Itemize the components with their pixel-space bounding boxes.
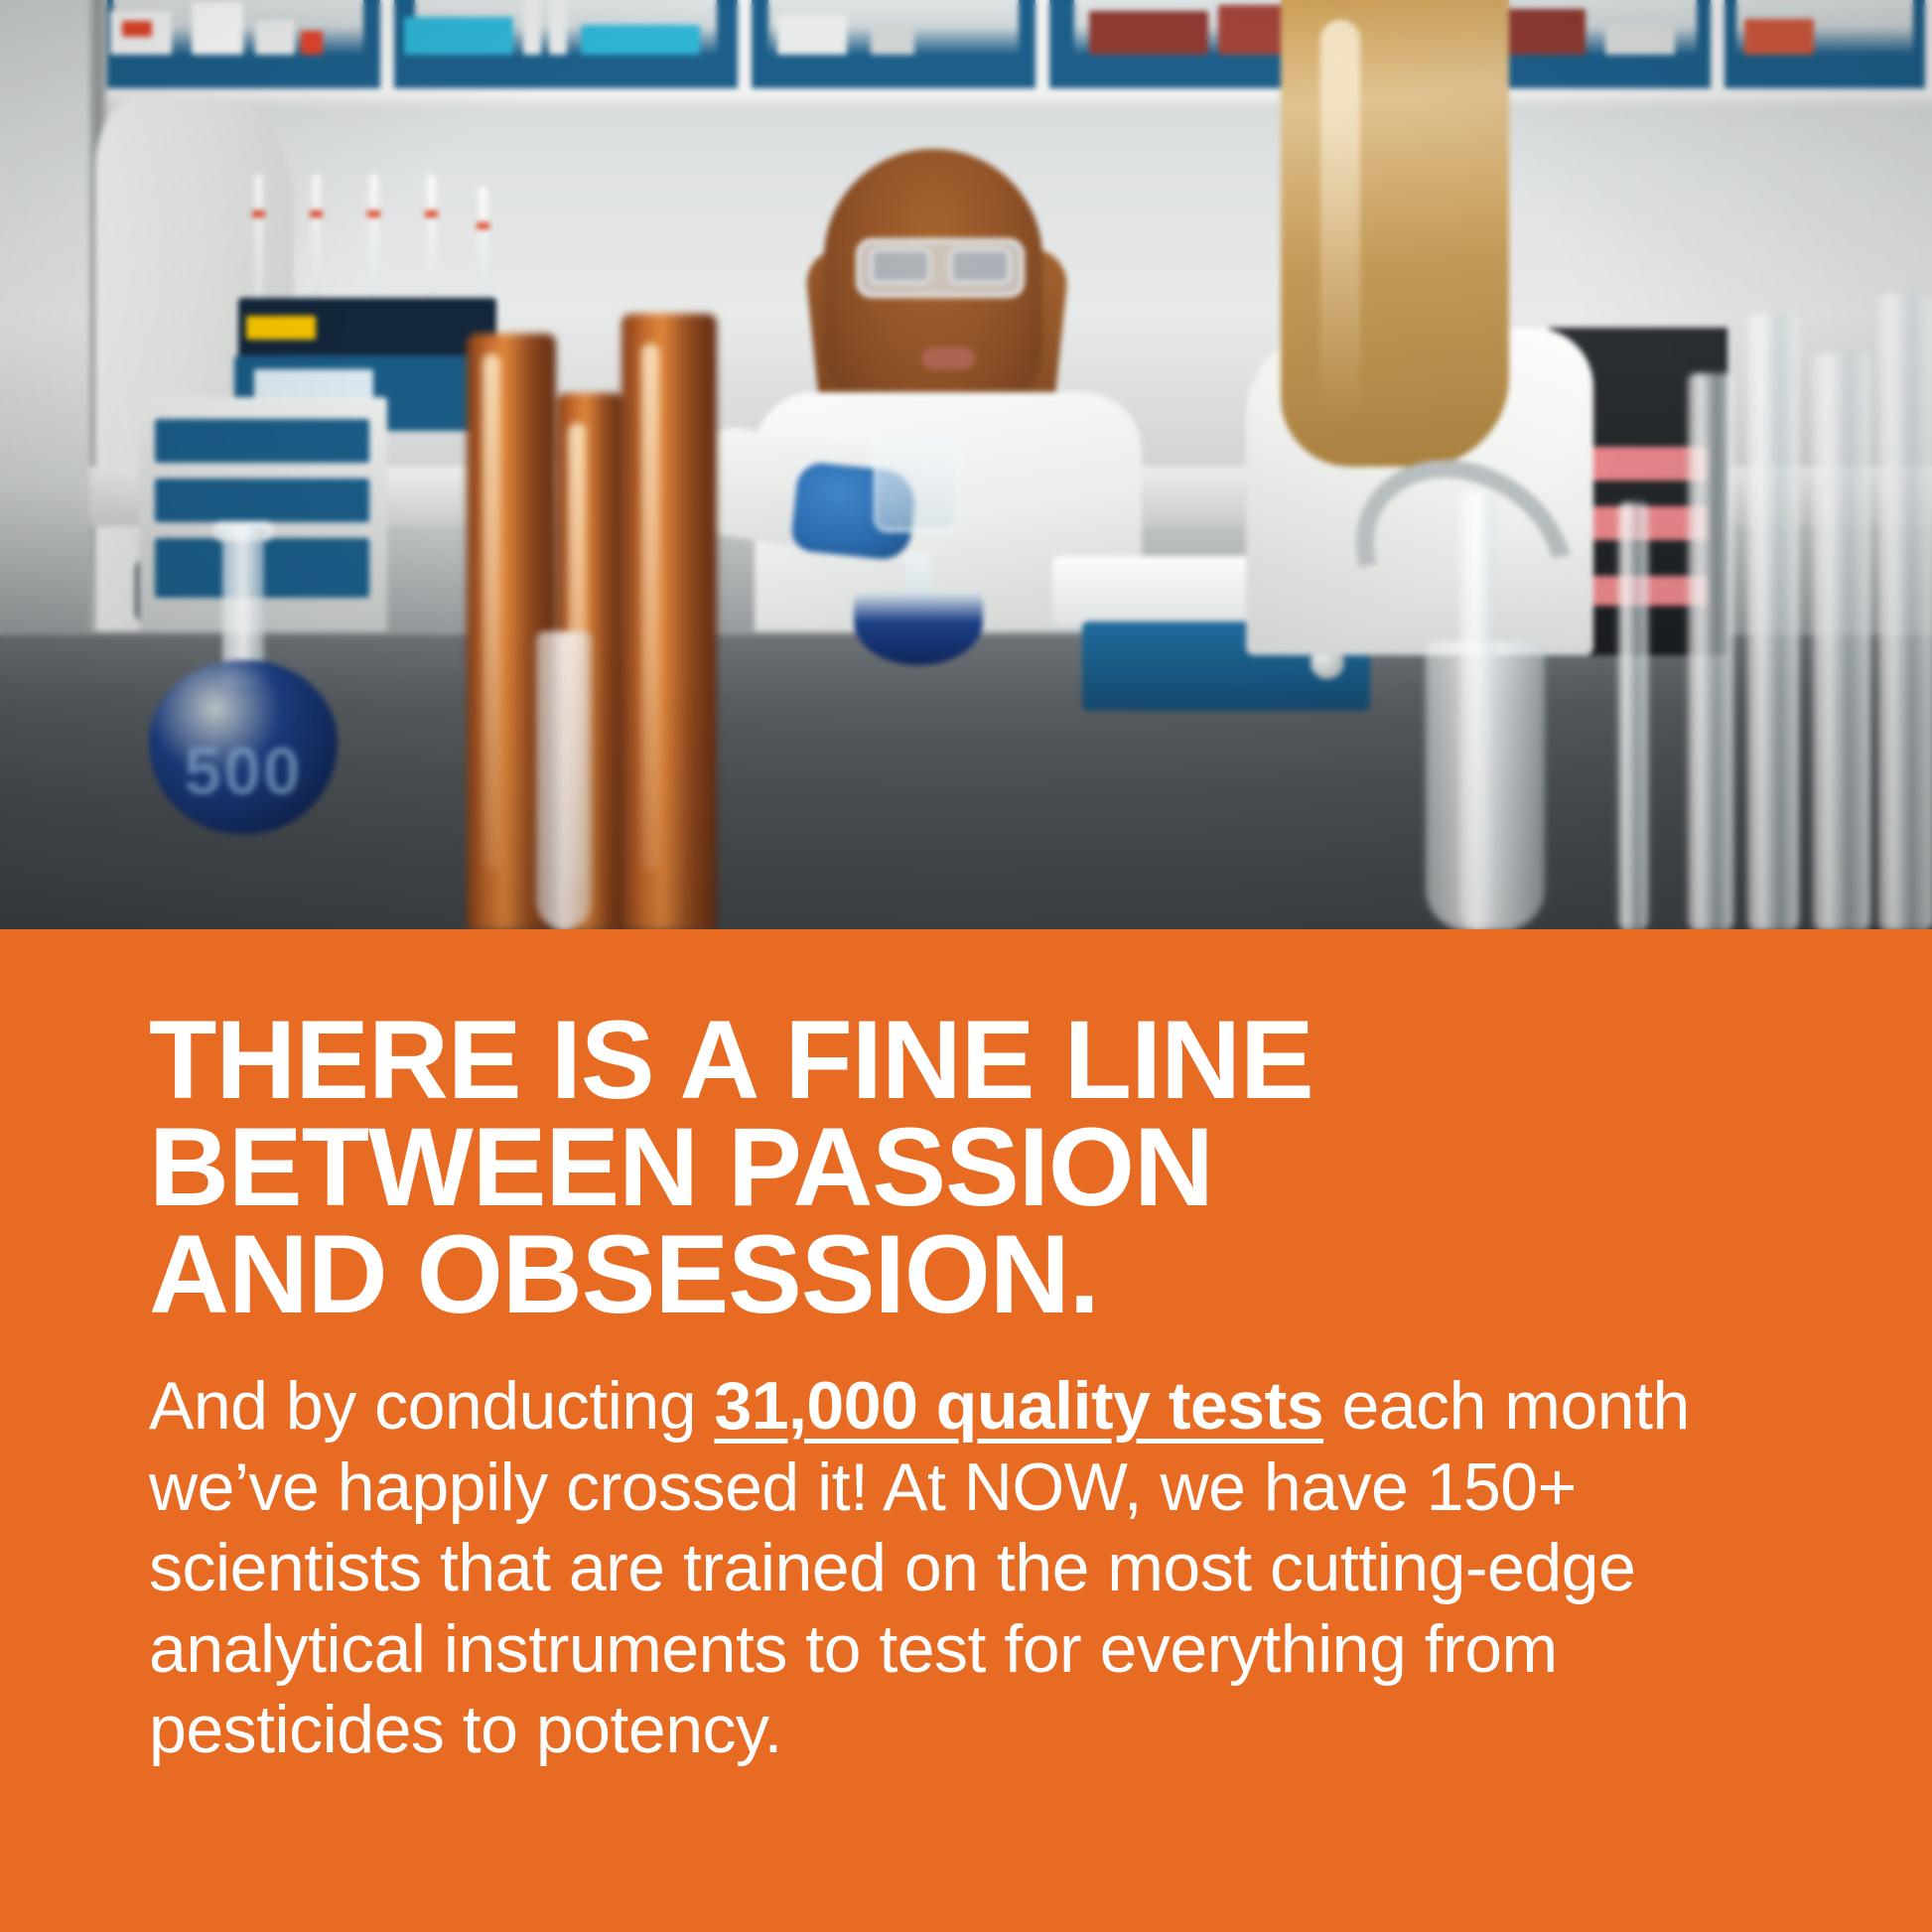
headline-line-1: THERE IS A FINE LINE [149, 1007, 1797, 1114]
glass-cylinder [1813, 353, 1870, 929]
instrument-yellow-label [246, 316, 316, 340]
glass-cylinder [1618, 502, 1648, 929]
blue-liquid-flask [854, 556, 983, 665]
glass-cylinder [1688, 373, 1733, 929]
flask-volume-label: 500 [169, 733, 318, 810]
flask-neck [1459, 492, 1495, 929]
headline-line-2: BETWEEN PASSION [149, 1114, 1797, 1221]
hair-highlight [1320, 20, 1360, 417]
volumetric-flask-500ml: 500 [149, 536, 338, 834]
quality-tests-emphasis: 31,000 quality tests [714, 1368, 1323, 1444]
body-paragraph: And by conducting 31,000 quality tests e… [149, 1366, 1777, 1771]
instrument-display [254, 369, 373, 399]
glass-cylinder [1747, 314, 1799, 929]
overhead-cabinet [387, 0, 745, 95]
headline-line-3: AND OBSESSION. [149, 1221, 1797, 1328]
clear-glass-neck [536, 631, 592, 929]
promotional-poster: 500 THERE IS A FINE LINE BETWEEN PASSION… [0, 0, 1932, 1932]
scientist-right-hair [1281, 0, 1509, 467]
overhead-cabinet [89, 0, 387, 95]
held-beaker [874, 437, 959, 532]
page-title: THERE IS A FINE LINE BETWEEN PASSION AND… [149, 1007, 1797, 1328]
amber-glass-column [621, 314, 717, 929]
orange-message-panel: THERE IS A FINE LINE BETWEEN PASSION AND… [0, 929, 1932, 1932]
glass-cylinder [1878, 294, 1932, 929]
overhead-cabinet [1718, 0, 1932, 95]
cabinet-underside-shelf [89, 89, 1932, 107]
burette-rack [248, 175, 496, 304]
scientist-center-mouth [921, 347, 975, 369]
laboratory-scientists-photo: 500 [0, 0, 1932, 929]
overhead-cabinet-row [89, 0, 1932, 95]
overhead-cabinet [745, 0, 1042, 95]
body-text-before: And by conducting [149, 1368, 714, 1444]
safety-goggles [856, 238, 1025, 298]
